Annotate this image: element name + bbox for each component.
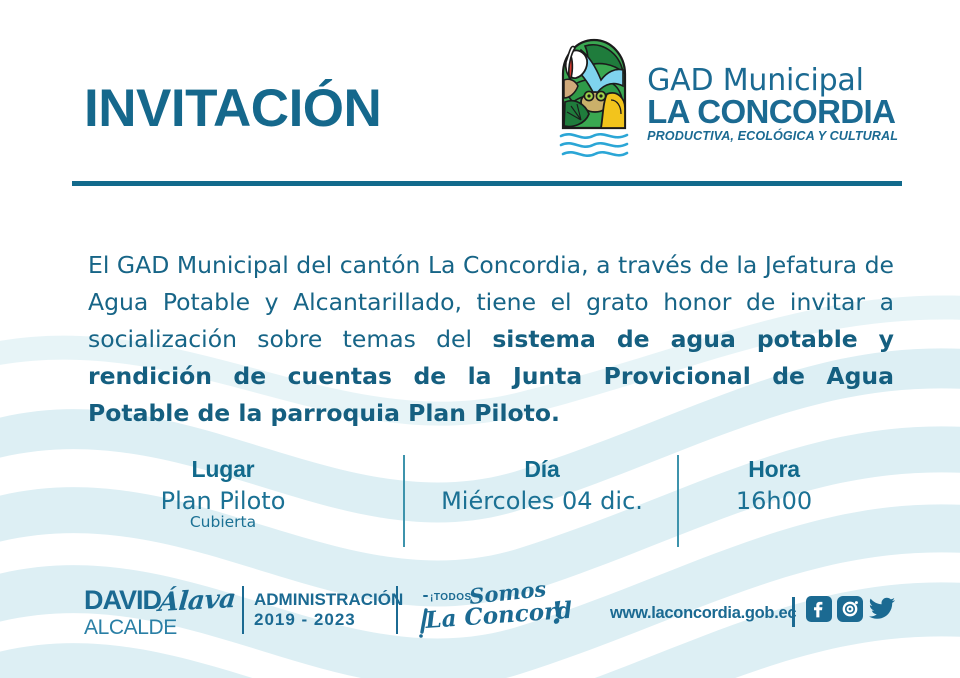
detail-dia-value: Miércoles 04 dic.: [423, 486, 661, 516]
mayor-last-name: Álava: [157, 584, 236, 618]
mayor-role: ALCALDE: [84, 617, 239, 638]
detail-divider-1: [403, 455, 405, 547]
detail-hora-value: 16h00: [694, 486, 854, 516]
mayor-first-name: DAVID: [84, 587, 161, 614]
poster-header: INVITACIÓN: [0, 0, 960, 185]
instagram-icon[interactable]: [837, 596, 863, 622]
mayor-signature: DAVID Álava ALCALDE: [84, 586, 239, 636]
header-divider-rule: [72, 181, 902, 186]
footer-divider-2: [396, 586, 398, 634]
detail-dia-label: Día: [423, 456, 661, 482]
detail-lugar: Lugar Plan Piloto Cubierta: [108, 456, 338, 532]
detail-hora-label: Hora: [694, 456, 854, 482]
invitation-body-text: El GAD Municipal del cantón La Concordia…: [88, 247, 894, 432]
social-links: [806, 596, 896, 622]
facebook-icon[interactable]: [806, 596, 832, 622]
event-details-row: Lugar Plan Piloto Cubierta Día Miércoles…: [0, 452, 960, 552]
footer-divider-1: [242, 586, 244, 634]
slogan-todos: ¡TODOS: [430, 592, 472, 603]
footer-divider-3: [792, 597, 795, 627]
gad-logo: GAD Municipal LA CONCORDIA PRODUCTIVA, E…: [551, 28, 898, 168]
administration-period: ADMINISTRACIÓN 2019 - 2023: [254, 590, 403, 630]
slogan-svg: ¡TODOS Somos La Concordia !: [412, 582, 572, 640]
gad-logo-line-2: LA CONCORDIA: [647, 95, 898, 129]
detail-dia: Día Miércoles 04 dic.: [423, 456, 661, 516]
slogan-lockup: ¡TODOS Somos La Concordia !: [412, 582, 572, 640]
gad-logo-text: GAD Municipal LA CONCORDIA PRODUCTIVA, E…: [647, 28, 898, 143]
poster-footer: DAVID Álava ALCALDE ADMINISTRACIÓN 2019 …: [0, 578, 960, 648]
page-title: INVITACIÓN: [84, 82, 381, 135]
administration-label: ADMINISTRACIÓN: [254, 590, 403, 610]
website-url[interactable]: www.laconcordia.gob.ec: [610, 604, 796, 623]
twitter-icon[interactable]: [868, 596, 896, 622]
detail-lugar-sub: Cubierta: [108, 514, 338, 532]
gad-logo-tagline: PRODUCTIVA, ECOLÓGICA Y CULTURAL: [647, 129, 898, 143]
detail-divider-2: [677, 455, 679, 547]
detail-lugar-value: Plan Piloto: [108, 486, 338, 516]
gad-la-concordia-emblem: [551, 28, 637, 168]
gad-logo-line-1: GAD Municipal: [647, 66, 898, 97]
detail-hora: Hora 16h00: [694, 456, 854, 516]
administration-years: 2019 - 2023: [254, 610, 403, 630]
invitation-poster: INVITACIÓN: [0, 0, 960, 678]
detail-lugar-label: Lugar: [108, 456, 338, 482]
